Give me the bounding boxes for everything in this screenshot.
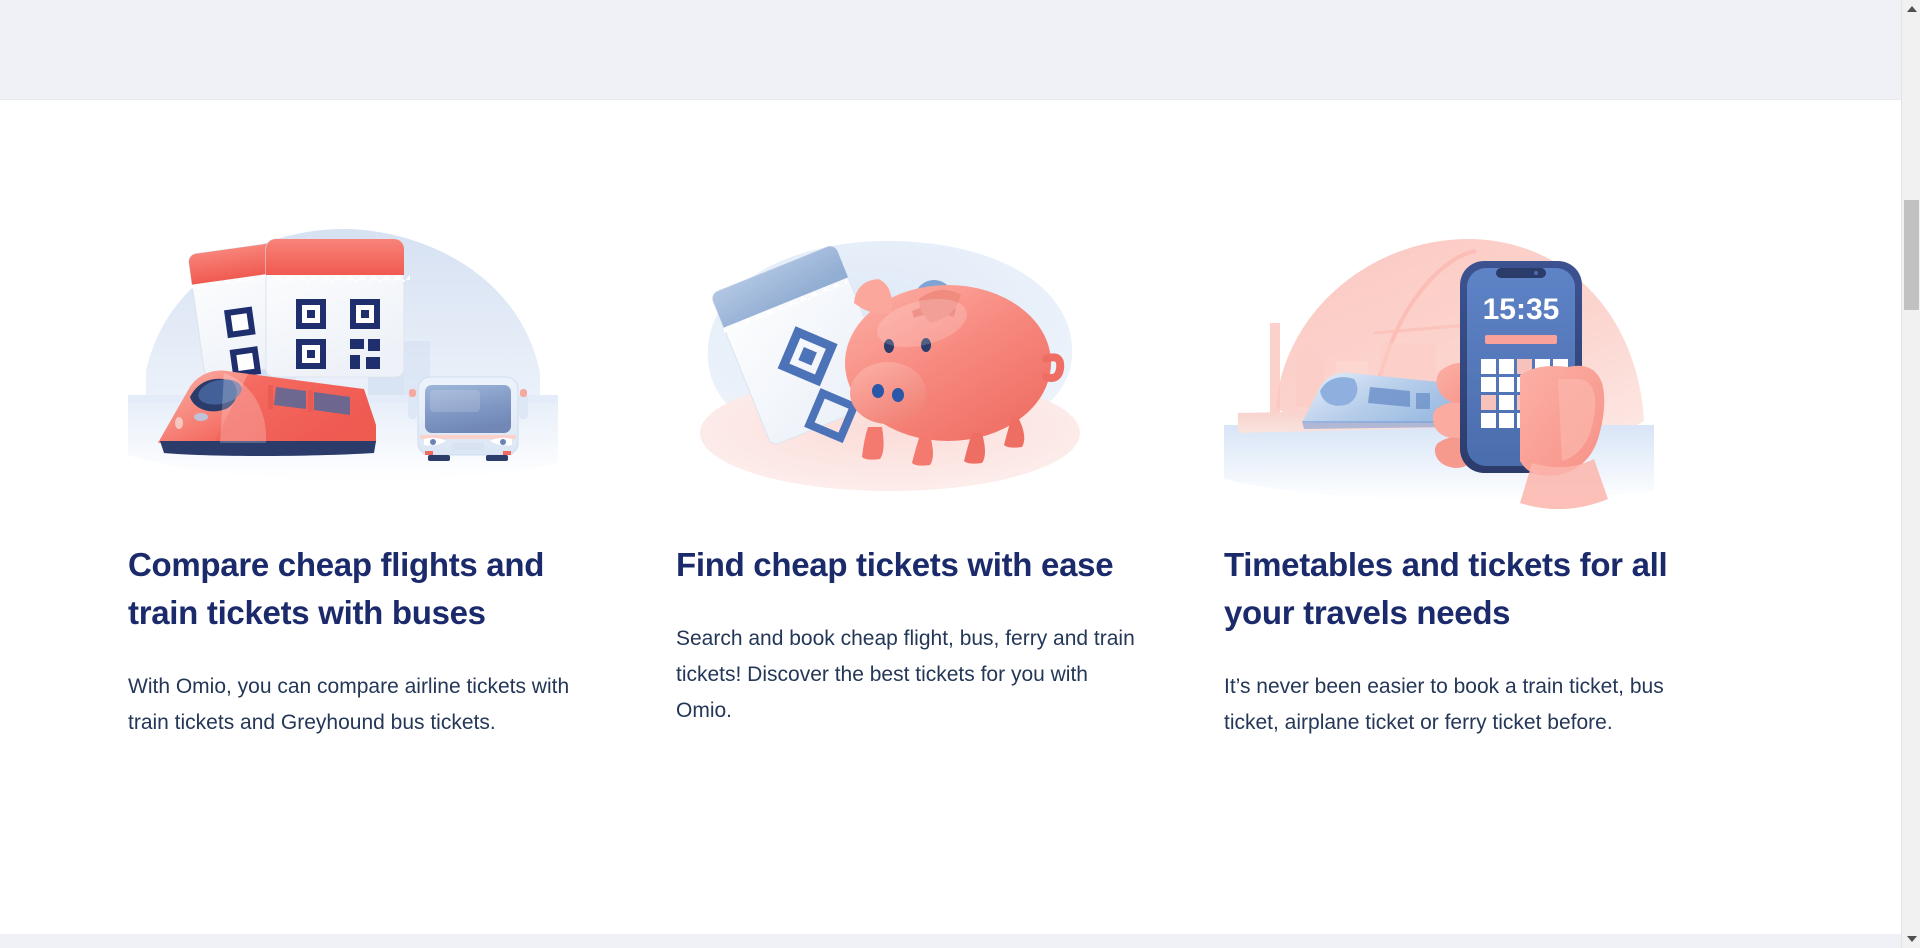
card-body: With Omio, you can compare airline ticke… [128,669,598,741]
next-section-band [0,934,1901,948]
card-body: Search and book cheap flight, bus, ferry… [676,621,1146,729]
feature-card-1: Compare cheap flights and train tickets … [128,211,676,741]
card-title: Timetables and tickets for all your trav… [1224,541,1694,637]
features-section: Compare cheap flights and train tickets … [0,101,1901,934]
scroll-down-arrow[interactable] [1902,930,1920,948]
card-title: Find cheap tickets with ease [676,541,1146,589]
vertical-scrollbar[interactable] [1901,0,1920,948]
feature-card-3: 15:35 [1224,211,1772,741]
train-bus-tickets-illustration [128,211,558,511]
scroll-up-arrow[interactable] [1902,0,1920,18]
previous-section-band [0,0,1901,100]
scrollbar-thumb[interactable] [1904,200,1919,310]
feature-card-2: Find cheap tickets with ease Search and … [676,211,1224,741]
page-root: Compare cheap flights and train tickets … [0,0,1920,948]
phone-timetable-illustration: 15:35 [1224,211,1654,511]
card-title: Compare cheap flights and train tickets … [128,541,598,637]
piggy-bank-tickets-illustration [676,211,1106,511]
card-body: It’s never been easier to book a train t… [1224,669,1694,741]
feature-columns: Compare cheap flights and train tickets … [128,211,1773,741]
phone-time-text: 15:35 [1483,293,1560,326]
